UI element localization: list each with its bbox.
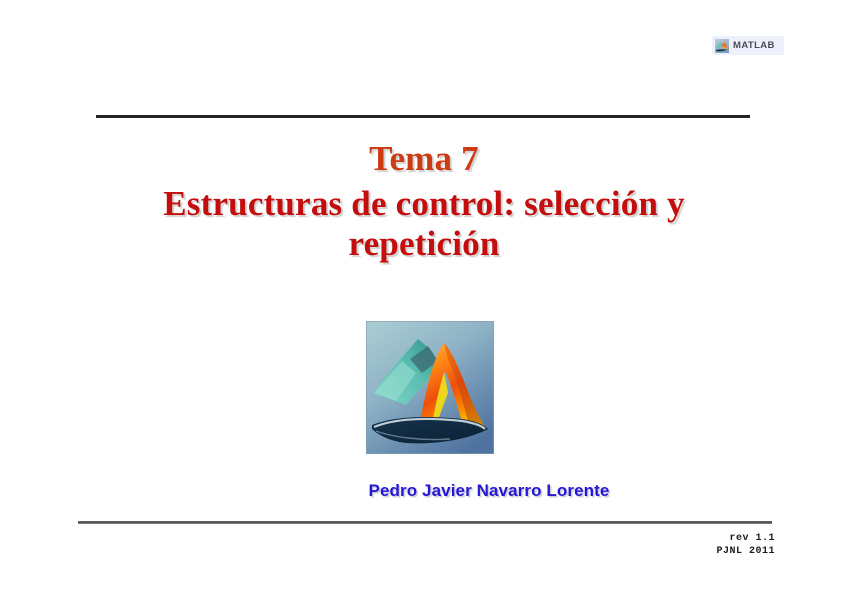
author-name: Pedro Javier Navarro Lorente [369,481,610,501]
slide-canvas: MATLAB Tema 7 Estructuras de control: se… [0,0,848,599]
page-title-line-1: Tema 7 [0,139,848,180]
revision-number: rev 1.1 [0,533,775,546]
matlab-membrane-icon [715,39,729,53]
revision-credit: PJNL 2011 [0,546,775,559]
title-block: Tema 7 Estructuras de control: selección… [0,139,848,265]
matlab-badge-label: MATLAB [733,41,775,51]
page-title-line-2: Estructuras de control: selección y [0,184,848,225]
matlab-membrane-logo [366,321,494,454]
divider-bottom [78,521,772,524]
page-title-line-3: repetición [0,224,848,265]
author-line: Pedro Javier Navarro Lorente [0,481,848,501]
matlab-badge: MATLAB [712,36,784,55]
revision-footer: rev 1.1 PJNL 2011 [0,533,848,558]
divider-top [96,115,750,118]
